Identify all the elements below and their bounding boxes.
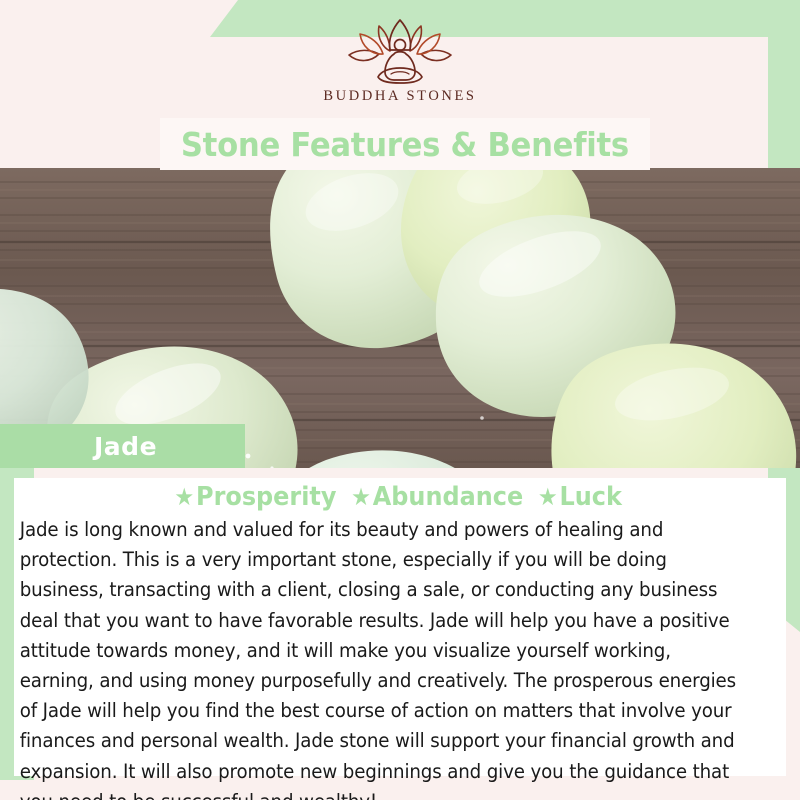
benefit-prosperity: Prosperity: [196, 482, 336, 512]
star-icon: ★: [538, 483, 558, 511]
star-icon: ★: [174, 483, 194, 511]
brand-logo: BUDDHA STONES: [0, 18, 800, 118]
brand-name: BUDDHA STONES: [323, 88, 476, 105]
stone-photo: [0, 168, 800, 468]
benefit-abundance: Abundance: [373, 482, 523, 512]
star-icon: ★: [351, 483, 371, 511]
benefits-list: ★Prosperity★Abundance★Luck: [45, 478, 755, 512]
header-title-band: Stone Features & Benefits: [160, 118, 650, 170]
lotus-meditation-icon: [342, 18, 458, 84]
stone-info-card: BUDDHA STONES Stone Features & Benefits: [0, 0, 800, 800]
stone-name: Jade: [94, 432, 157, 461]
page-title: Stone Features & Benefits: [181, 125, 629, 164]
stone-name-badge: Jade: [0, 424, 245, 468]
stone-description: Jade is long known and valued for its be…: [14, 512, 751, 800]
description-card: ★Prosperity★Abundance★Luck Jade is long …: [14, 478, 786, 776]
benefit-luck: Luck: [560, 482, 622, 512]
